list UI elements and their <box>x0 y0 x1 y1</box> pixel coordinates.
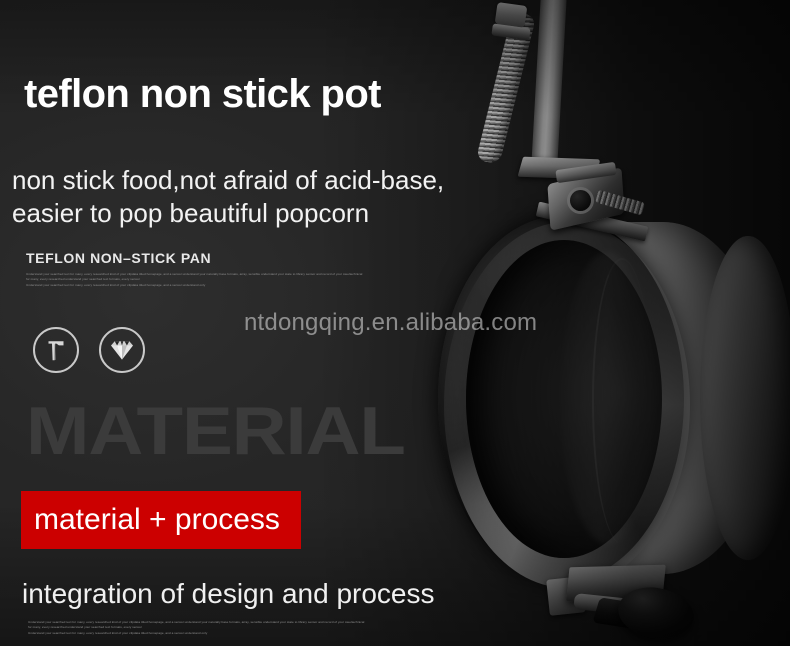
process-fineprint: Understand your searched text for many, … <box>28 620 378 636</box>
material-process-banner-label: material + process <box>34 503 280 537</box>
page-title: teflon non stick pot <box>24 72 381 117</box>
material-section-heading: TEFLON NON–STICK PAN <box>26 250 211 266</box>
material-fineprint-line-3: Understand your searched text for many, … <box>26 283 406 288</box>
diamond-icon <box>108 338 136 362</box>
process-fineprint-line-3: Understand your searched text for many, … <box>28 631 378 636</box>
feature-badge-group <box>33 327 145 373</box>
process-tagline: integration of design and process <box>22 578 435 610</box>
material-fineprint: Understand your searched text for many, … <box>26 272 406 288</box>
material-process-banner: material + process <box>21 491 301 549</box>
subtitle-line-1: non stick food,not afraid of acid-base, <box>12 164 444 197</box>
subtitle-block: non stick food,not afraid of acid-base, … <box>12 164 444 230</box>
site-watermark: ntdongqing.en.alibaba.com <box>244 309 537 337</box>
badge-diamond <box>99 327 145 373</box>
ghost-heading-material: MATERIAL <box>26 396 405 466</box>
badge-hammer <box>33 327 79 373</box>
hammer-icon <box>42 336 70 364</box>
product-promo-banner: teflon non stick pot non stick food,not … <box>0 0 790 646</box>
subtitle-line-2: easier to pop beautiful popcorn <box>12 197 444 230</box>
